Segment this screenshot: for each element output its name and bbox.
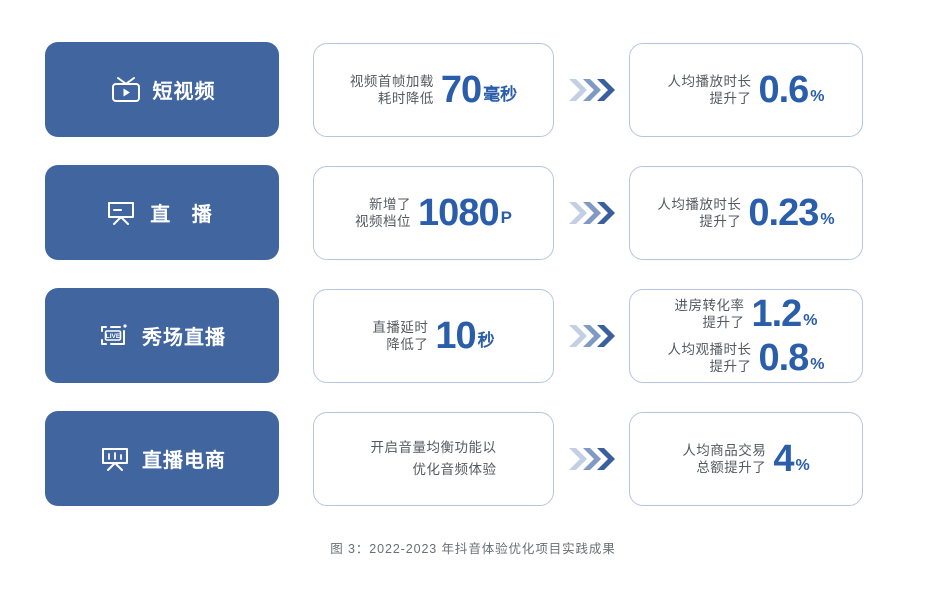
- metric: 人均播放时长 提升了 0.6 %: [667, 71, 824, 109]
- right-metric-card-2: 人均播放时长 提升了 0.23 %: [629, 166, 863, 260]
- category-card-live-commerce[interactable]: 直播电商: [45, 411, 279, 506]
- metric-unit: 毫秒: [483, 80, 517, 109]
- metric-line-2: 视频档位: [355, 213, 411, 230]
- right-metric-card-4: 人均商品交易 总额提升了 4 %: [629, 412, 863, 506]
- figure-container: 短视频 视频首帧加载 耗时降低 70 毫秒: [0, 0, 946, 598]
- metric-description: 新增了 视频档位: [355, 196, 411, 230]
- right-metric-card-3: 进房转化率 提升了 1.2 % 人均观播时长 提升了 0.8 %: [629, 289, 863, 383]
- table-row: 直 播 新增了 视频档位 1080 P: [0, 151, 946, 274]
- metric-value: 10: [435, 317, 475, 355]
- metric-line-2: 提升了: [667, 90, 751, 107]
- table-row: 短视频 视频首帧加载 耗时降低 70 毫秒: [0, 28, 946, 151]
- category-label: 直 播: [148, 198, 220, 227]
- metric-line-2: 提升了: [667, 358, 751, 375]
- text-line-1: 开启音量均衡功能以: [371, 440, 497, 455]
- figure-caption: 图 3：2022-2023 年抖音体验优化项目实践成果: [0, 538, 946, 557]
- middle-metric-card-1: 视频首帧加载 耗时降低 70 毫秒: [313, 43, 554, 137]
- text-line-2: 优化音频体验: [413, 462, 497, 477]
- metric-description: 人均播放时长 提升了: [657, 196, 741, 230]
- metric: 人均商品交易 总额提升了 4 %: [682, 440, 809, 478]
- middle-text-card-4: 开启音量均衡功能以 优化音频体验: [313, 412, 554, 506]
- metric-value: 1080: [418, 194, 499, 232]
- metric: 直播延时 降低了 10 秒: [372, 317, 494, 355]
- live-badge-icon: LIVE: [98, 321, 132, 351]
- category-card-live[interactable]: 直 播: [45, 165, 279, 260]
- metric-line-1: 进房转化率: [674, 298, 744, 313]
- category-card-show-live[interactable]: LIVE 秀场直播: [45, 288, 279, 383]
- metric-value: 0.6: [758, 71, 808, 109]
- tv-play-icon: [109, 75, 143, 105]
- metric-line-1: 新增了: [369, 197, 411, 212]
- metric-unit: 秒: [478, 326, 495, 355]
- triple-chevron-right-icon: [554, 198, 629, 228]
- metric: 视频首帧加载 耗时降低 70 毫秒: [350, 71, 517, 109]
- metric-line-1: 视频首帧加载: [350, 74, 434, 89]
- metric-value: 4: [773, 440, 793, 478]
- metric-value: 70: [441, 71, 481, 109]
- metric-description: 进房转化率 提升了: [674, 297, 744, 331]
- metric-line-2: 降低了: [372, 336, 428, 353]
- metric: 进房转化率 提升了 1.2 %: [674, 295, 817, 333]
- metric-line-1: 人均播放时长: [657, 197, 741, 212]
- metric-line-2: 提升了: [657, 213, 741, 230]
- metric-line-1: 人均商品交易: [682, 443, 766, 458]
- table-row: 直播电商 开启音量均衡功能以 优化音频体验 人均商品交易: [0, 397, 946, 520]
- metric-value: 1.2: [751, 295, 801, 333]
- right-metric-card-1: 人均播放时长 提升了 0.6 %: [629, 43, 863, 137]
- middle-metric-card-3: 直播延时 降低了 10 秒: [313, 289, 554, 383]
- metric-line-2: 提升了: [674, 314, 744, 331]
- triple-chevron-right-icon: [554, 444, 629, 474]
- category-label: 直播电商: [142, 444, 226, 473]
- metric-description: 直播延时 降低了: [372, 319, 428, 353]
- metric-unit: %: [820, 211, 834, 232]
- projector-screen-icon: [104, 198, 138, 228]
- metric-description: 人均观播时长 提升了: [667, 341, 751, 375]
- metric-line-2: 总额提升了: [682, 459, 766, 476]
- metric-line-1: 直播延时: [372, 320, 428, 335]
- metric-unit: %: [803, 312, 817, 333]
- metric-unit: %: [810, 88, 824, 109]
- metric-value: 0.23: [748, 194, 818, 232]
- projector-chart-icon: [98, 444, 132, 474]
- metric-line-1: 人均观播时长: [667, 342, 751, 357]
- rows-container: 短视频 视频首帧加载 耗时降低 70 毫秒: [0, 28, 946, 520]
- triple-chevron-right-icon: [554, 321, 629, 351]
- metric: 人均观播时长 提升了 0.8 %: [667, 339, 824, 377]
- table-row: LIVE 秀场直播 直播延时 降低了 10 秒: [0, 274, 946, 397]
- metric-unit: %: [810, 356, 824, 377]
- metric: 人均播放时长 提升了 0.23 %: [657, 194, 834, 232]
- metric-description: 视频首帧加载 耗时降低: [350, 73, 434, 107]
- metric-unit: P: [501, 208, 512, 232]
- metric-description: 人均播放时长 提升了: [667, 73, 751, 107]
- category-card-short-video[interactable]: 短视频: [45, 42, 279, 137]
- svg-text:LIVE: LIVE: [106, 333, 121, 340]
- metric-unit: %: [795, 457, 809, 478]
- metric-line-1: 人均播放时长: [667, 74, 751, 89]
- triple-chevron-right-icon: [554, 75, 629, 105]
- category-label: 短视频: [153, 75, 216, 104]
- middle-metric-card-2: 新增了 视频档位 1080 P: [313, 166, 554, 260]
- card-description: 开启音量均衡功能以 优化音频体验: [371, 437, 497, 481]
- metric-value: 0.8: [758, 339, 808, 377]
- metric-description: 人均商品交易 总额提升了: [682, 442, 766, 476]
- metric: 新增了 视频档位 1080 P: [355, 194, 512, 232]
- category-label: 秀场直播: [142, 321, 226, 350]
- metric-line-2: 耗时降低: [350, 90, 434, 107]
